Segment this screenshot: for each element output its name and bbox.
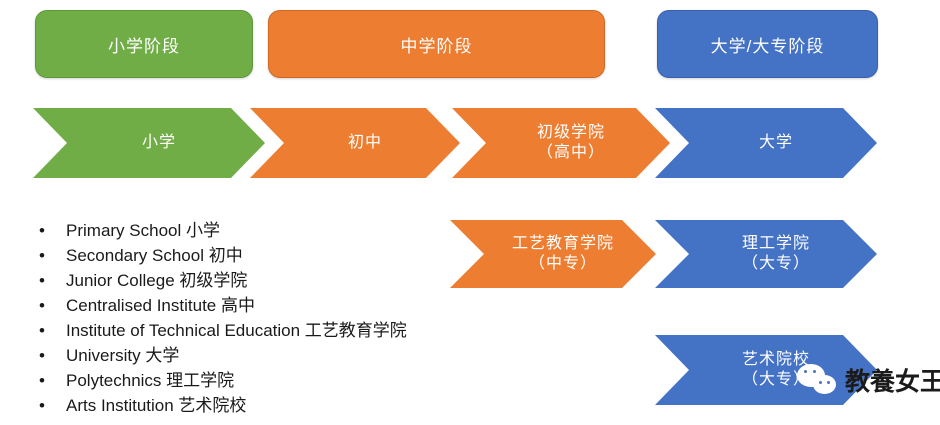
flow-chevron-university: 大学 [655,108,877,178]
flow-chevron-primary-school-line1: 小学 [142,133,176,153]
flow-chevron-arts-institution-line2: （大专） [742,370,810,390]
flow-chevron-polytechnic-text: 理工学院 （大专） [722,234,810,274]
stage-header-primary-label: 小学阶段 [108,32,180,57]
flow-chevron-ite-line1: 工艺教育学院 [512,234,614,254]
stage-header-primary: 小学阶段 [35,10,253,78]
flow-chevron-arts-institution-text: 艺术院校 （大专） [722,350,810,390]
list-item: • Junior College 初级学院 [30,268,500,293]
bullet-icon: • [39,293,45,318]
stage-header-tertiary: 大学/大专阶段 [657,10,878,78]
list-item-label: Secondary School 初中 [66,246,243,265]
bullet-icon: • [39,343,45,368]
flow-chevron-primary-school-text: 小学 [122,133,176,153]
bullet-icon: • [39,368,45,393]
flow-chevron-junior-college-text: 初级学院 （高中） [517,123,605,163]
bullet-icon: • [39,243,45,268]
flow-chevron-arts-institution-line1: 艺术院校 [742,350,810,370]
flow-chevron-ite-text: 工艺教育学院 （中专） [492,234,614,274]
bullet-icon: • [39,218,45,243]
list-item: • Secondary School 初中 [30,243,500,268]
flow-chevron-polytechnic-line1: 理工学院 [742,234,810,254]
flow-chevron-university-line1: 大学 [759,133,793,153]
bullet-icon: • [39,318,45,343]
list-item-label: Primary School 小学 [66,221,220,240]
list-item: • Arts Institution 艺术院校 [30,393,500,418]
flow-chevron-primary-school: 小学 [33,108,265,178]
flow-chevron-junior-college-line2: （高中） [537,143,605,163]
bullet-icon: • [39,268,45,293]
legend-list: • Primary School 小学 • Secondary School 初… [30,218,500,418]
flow-chevron-secondary-school-text: 初中 [328,133,382,153]
list-item-label: Centralised Institute 高中 [66,296,255,315]
list-item-label: Polytechnics 理工学院 [66,371,234,390]
flow-chevron-arts-institution: 艺术院校 （大专） [655,335,877,405]
list-item-label: Institute of Technical Education 工艺教育学院 [66,321,407,340]
stage-header-tertiary-label: 大学/大专阶段 [711,32,825,57]
list-item-label: Junior College 初级学院 [66,271,247,290]
stage-header-secondary-label: 中学阶段 [401,32,473,57]
flow-chevron-junior-college: 初级学院 （高中） [452,108,670,178]
list-item-label: University 大学 [66,346,179,365]
flow-chevron-secondary-school-line1: 初中 [348,133,382,153]
list-item: • Centralised Institute 高中 [30,293,500,318]
list-item-label: Arts Institution 艺术院校 [66,396,246,415]
flow-chevron-ite-line2: （中专） [512,254,614,274]
diagram-canvas: 小学阶段 中学阶段 大学/大专阶段 小学 初中 初级学院 （高中） 大学 工艺教… [0,0,940,425]
flow-chevron-secondary-school: 初中 [250,108,460,178]
flow-chevron-polytechnic-line2: （大专） [742,254,810,274]
flow-chevron-polytechnic: 理工学院 （大专） [655,220,877,288]
flow-chevron-junior-college-line1: 初级学院 [537,123,605,143]
stage-header-secondary: 中学阶段 [268,10,605,78]
list-item: • Institute of Technical Education 工艺教育学… [30,318,500,343]
list-item: • University 大学 [30,343,500,368]
flow-chevron-university-text: 大学 [739,133,793,153]
bullet-icon: • [39,393,45,418]
list-item: • Polytechnics 理工学院 [30,368,500,393]
list-item: • Primary School 小学 [30,218,500,243]
